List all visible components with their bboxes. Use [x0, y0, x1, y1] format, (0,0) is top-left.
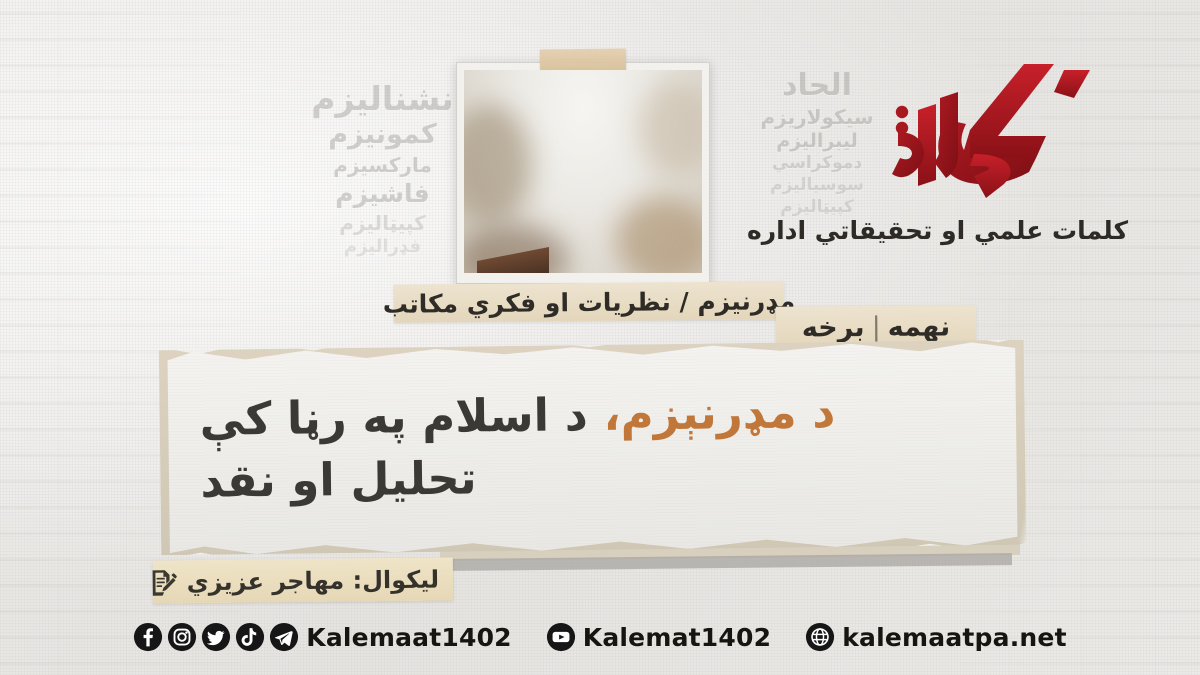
social-handle-label: Kalemaat1402 — [306, 623, 512, 652]
title-highlight: د مډرنېزم، — [603, 385, 835, 441]
website-label: kalemaatpa.net — [842, 623, 1067, 652]
telegram-icon[interactable] — [269, 622, 299, 652]
kalemaat-logo-icon — [878, 58, 1110, 206]
title-line-2: تحلیل او نقد — [200, 450, 477, 509]
minaret-photo — [464, 70, 702, 273]
footer-youtube-group: Kalemat1402 — [546, 622, 771, 652]
facebook-icon[interactable] — [133, 622, 163, 652]
brand-logo-block: کلمات علمي او تحقیقاتي اداره — [860, 58, 1128, 245]
poster-canvas: نشنالیزم کمونیزم مارکسیزم فاشیزم کپیټالی… — [0, 0, 1200, 675]
footer-website-group: kalemaatpa.net — [805, 622, 1067, 652]
youtube-icon[interactable] — [546, 622, 576, 652]
category-strip[interactable]: مډرنیزم / نظریات او فکري مکاتب — [394, 281, 784, 322]
youtube-handle-label: Kalemat1402 — [583, 623, 771, 652]
social-icon-row — [133, 622, 299, 652]
minaret-photo-frame — [456, 62, 710, 284]
part-unit-label: برخه — [802, 312, 865, 343]
author-label: لیکوال: مهاجر عزیزي — [186, 565, 439, 596]
title-card: د مډرنېزم، د اسلام په رڼا کې تحلیل او نق… — [159, 340, 1026, 556]
footer-social-group: Kalemaat1402 — [133, 622, 512, 652]
title-line-1: د مډرنېزم، د اسلام په رڼا کې — [199, 384, 835, 448]
globe-icon[interactable] — [805, 622, 835, 652]
tiktok-icon[interactable] — [235, 622, 265, 652]
footer-social-bar: Kalemaat1402 Kalemat1402 kalemaatpa.net — [0, 617, 1200, 657]
title-line-1-prefix: د اسلام په رڼا کې — [199, 388, 588, 446]
part-number-label: نهمه — [888, 311, 951, 342]
brand-subtitle: کلمات علمي او تحقیقاتي اداره — [860, 216, 1128, 245]
instagram-icon[interactable] — [167, 622, 197, 652]
category-strip-label: مډرنیزم / نظریات او فکري مکاتب — [394, 281, 784, 322]
twitter-icon[interactable] — [201, 622, 231, 652]
writer-document-pencil-icon — [147, 567, 177, 597]
tape-strip — [540, 49, 626, 72]
title-block: د مډرنېزم، د اسلام په رڼا کې تحلیل او نق… — [159, 340, 1026, 556]
part-separator: | — [872, 311, 881, 342]
author-strip[interactable]: لیکوال: مهاجر عزیزي — [153, 557, 453, 603]
